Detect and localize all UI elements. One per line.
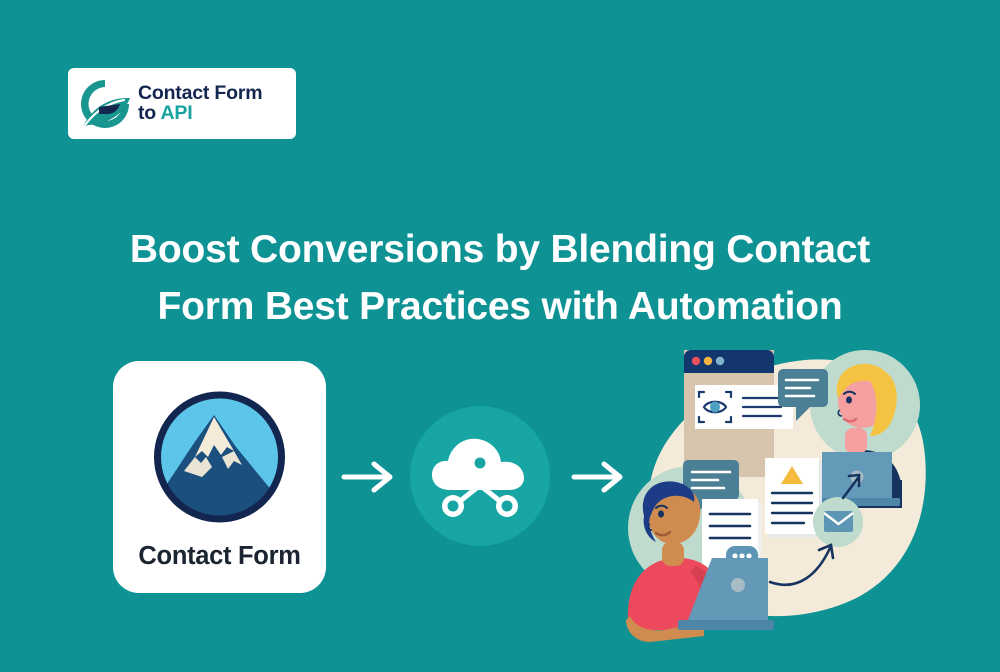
brand-line-2-accent: API: [161, 102, 193, 124]
cloud-network-automation-icon[interactable]: [410, 406, 550, 546]
eye-pupil: [710, 402, 720, 413]
contact-form-to-api-logo-icon: [74, 73, 136, 135]
brand-logo-card[interactable]: Contact Form to API: [68, 68, 296, 139]
brand-wordmark: Contact Form to API: [138, 84, 262, 124]
contact-form-mountain-logo-icon: [142, 385, 297, 540]
contact-form-card[interactable]: Contact Form: [113, 361, 326, 593]
browser-dot-blue: [716, 357, 724, 365]
poster-canvas: Contact Form to API Boost Conversions by…: [0, 0, 1000, 667]
laptop-base: [678, 620, 774, 630]
browser-dot-yellow: [704, 357, 712, 365]
team-automation-workflow-illustration: [600, 330, 1000, 667]
brand-line-2-prefix: to: [138, 102, 161, 124]
browser-dot-red: [692, 357, 700, 365]
page-title: Boost Conversions by Blending Contact Fo…: [0, 222, 1000, 335]
contact-form-label: Contact Form: [138, 542, 300, 571]
brand-line-2: to API: [138, 104, 262, 124]
arrow-right-icon: [338, 454, 400, 500]
envelope-icon: [813, 497, 863, 547]
page-title-line-2: Form Best Practices with Automation: [60, 279, 940, 336]
page-title-line-1: Boost Conversions by Blending Contact: [60, 222, 940, 279]
